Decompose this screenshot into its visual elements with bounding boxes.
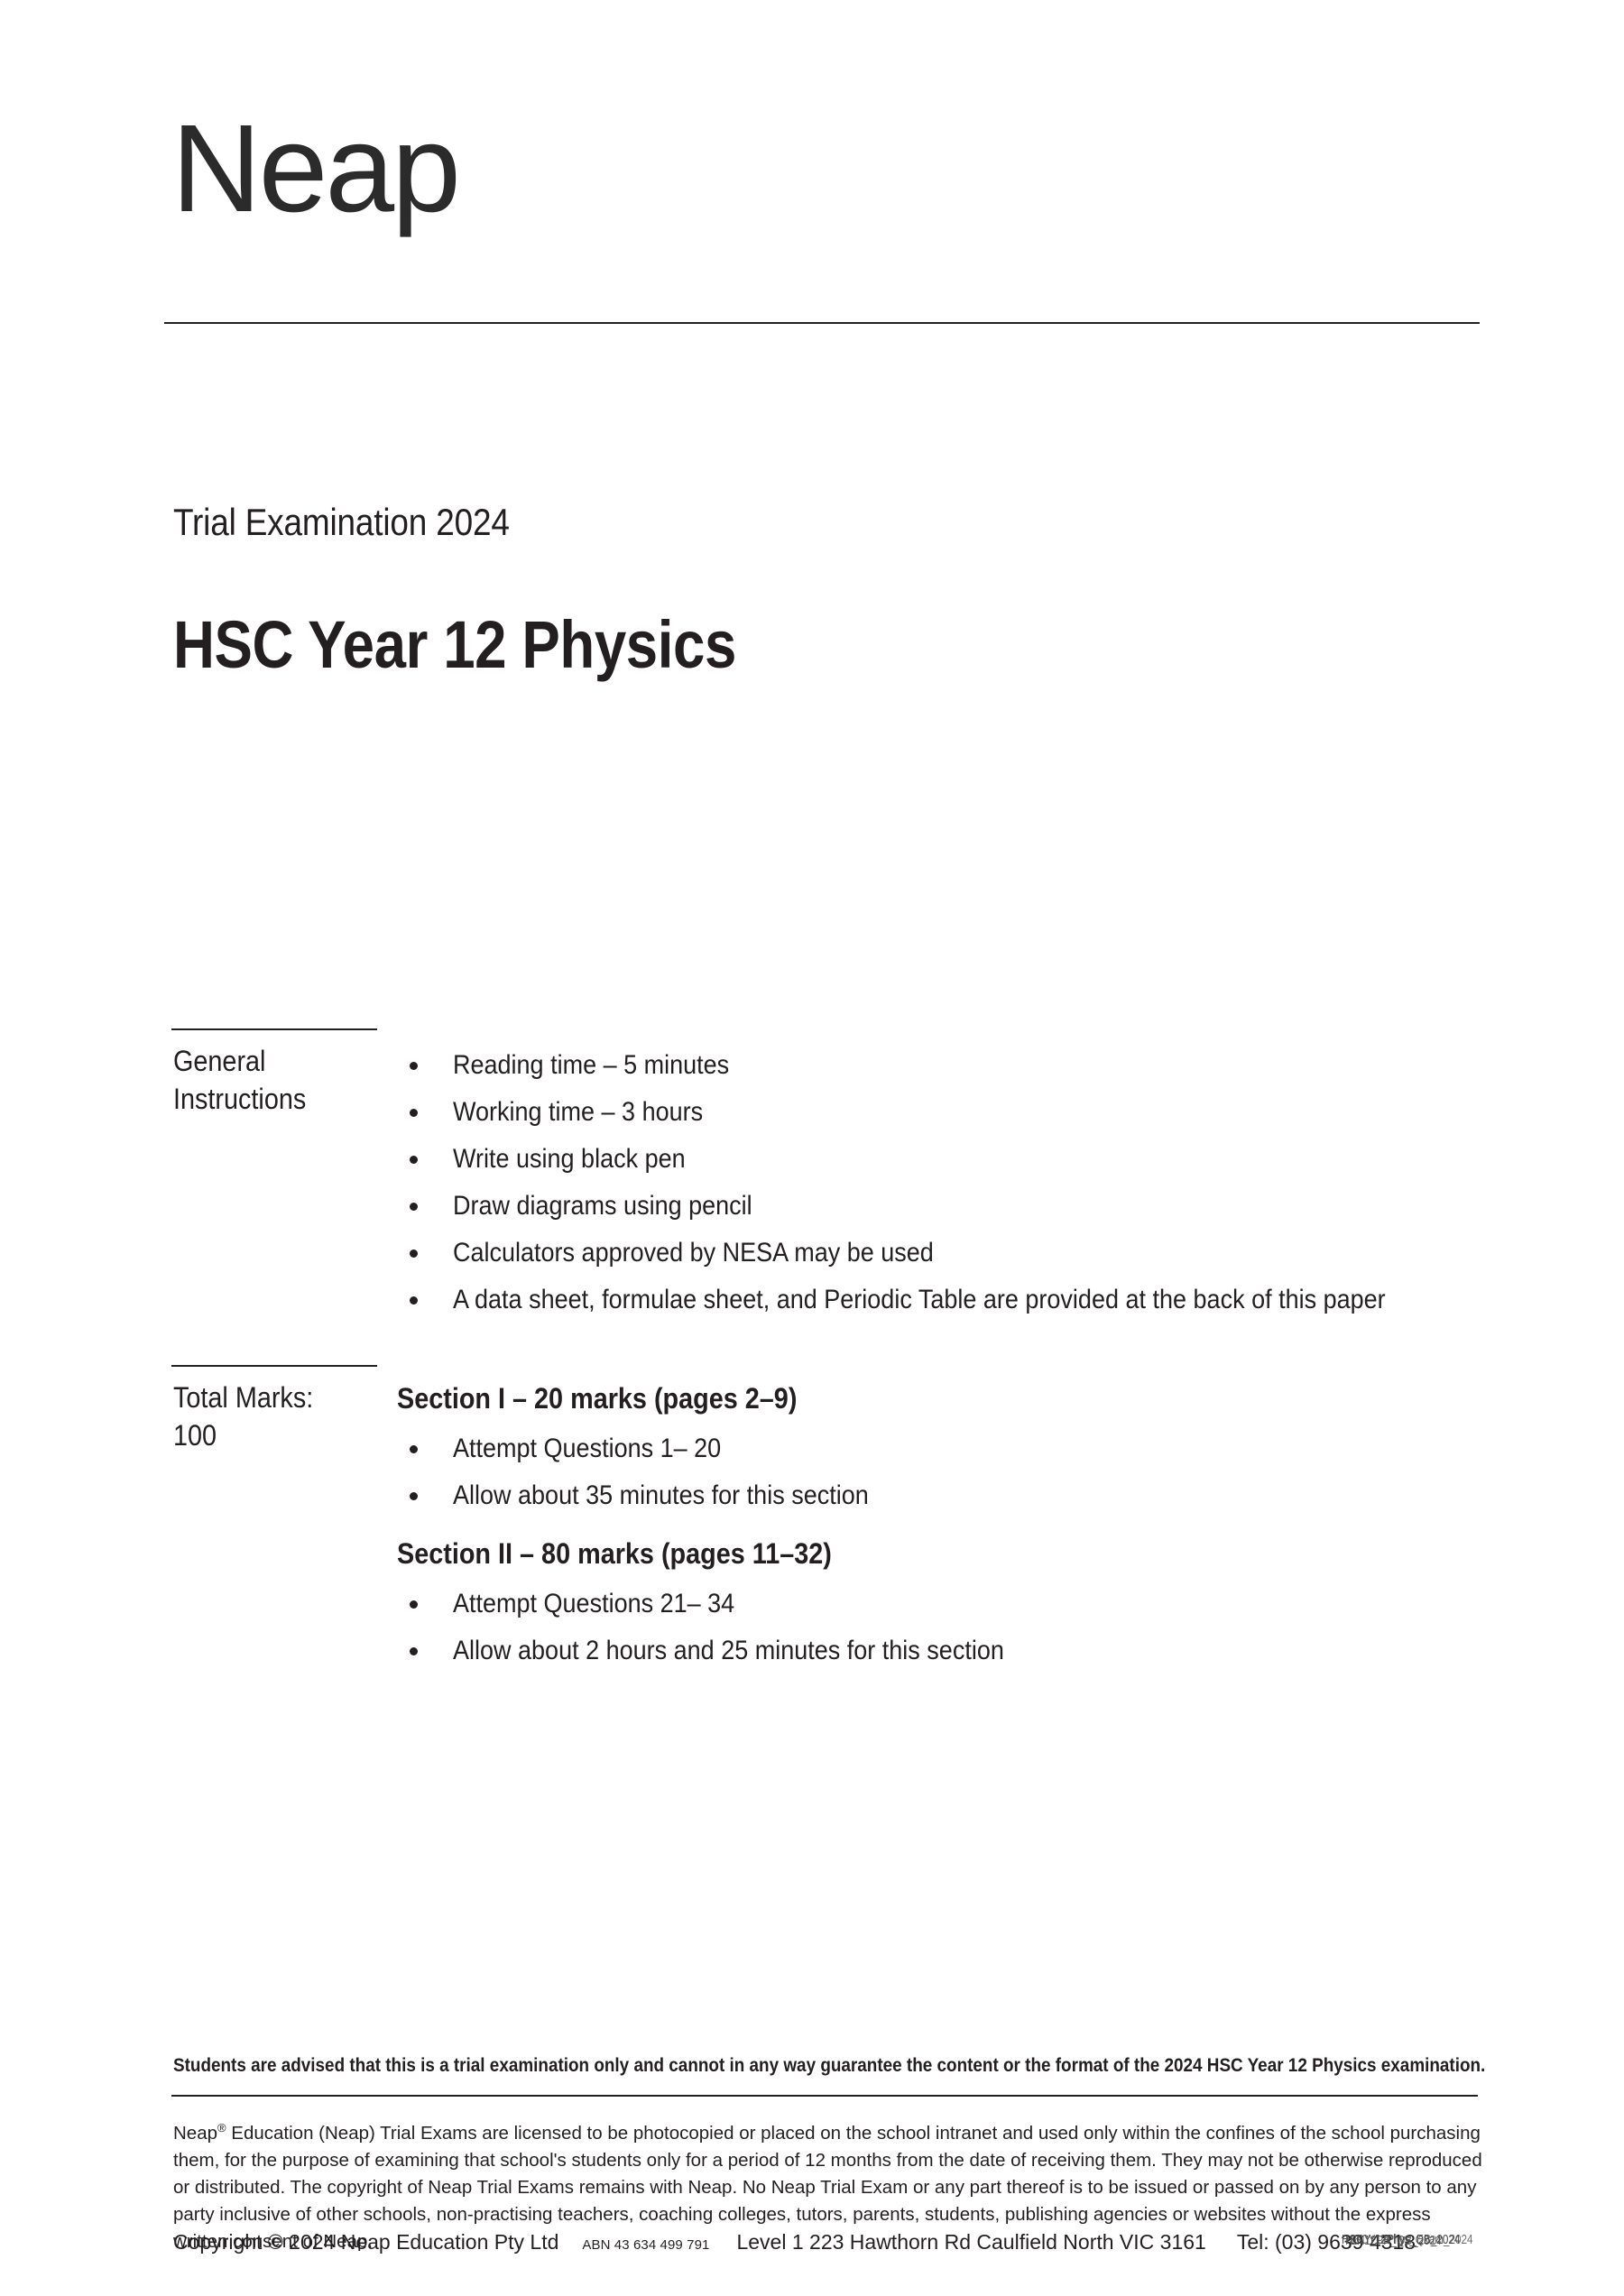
abn-text: ABN 43 634 499 791 <box>582 2237 709 2253</box>
general-instructions-label-line2: Instructions <box>173 1080 417 1118</box>
bullet-dot-icon <box>410 1600 418 1609</box>
section-one-heading: Section I – 20 marks (pages 2–9) <box>397 1379 1480 1418</box>
license-brand: Neap <box>173 2123 217 2144</box>
trial-exam-advisory: Students are advised that this is a tria… <box>173 2055 1481 2077</box>
copyright-text: Copyright © 2024 Neap Education Pty Ltd <box>173 2230 558 2254</box>
list-item-label: Attempt Questions 21– 34 <box>453 1581 734 1627</box>
list-item: A data sheet, formulae sheet, and Period… <box>397 1277 1480 1323</box>
general-instructions-list: Reading time – 5 minutes Working time – … <box>397 1042 1480 1323</box>
bullet-dot-icon <box>410 1062 418 1070</box>
neap-logo: Neap <box>171 106 458 231</box>
section-two: Section II – 80 marks (pages 11–32) Atte… <box>397 1534 1480 1674</box>
list-item-label: Reading time – 5 minutes <box>453 1042 729 1089</box>
list-item-label: Allow about 35 minutes for this section <box>453 1472 869 1519</box>
document-code-layer-3: HSCY12Phys_Exam_2024 <box>1346 2232 1472 2247</box>
page-title: HSC Year 12 Physics <box>173 606 736 683</box>
list-item: Allow about 35 minutes for this section <box>397 1472 1480 1519</box>
bullet-dot-icon <box>410 1156 418 1164</box>
list-item: Working time – 3 hours <box>397 1089 1480 1136</box>
footer-divider <box>171 2095 1478 2097</box>
general-instructions-label: General Instructions <box>173 1042 417 1118</box>
total-marks-divider <box>171 1365 377 1367</box>
header-divider <box>164 322 1480 324</box>
list-item: Draw diagrams using pencil <box>397 1183 1480 1230</box>
bullet-dot-icon <box>410 1492 418 1500</box>
bullet-dot-icon <box>410 1249 418 1258</box>
list-item-label: Attempt Questions 1– 20 <box>453 1425 721 1472</box>
document-code: HSCYr12Phys_QB_2024 TEN12PH_QB_2024 HSCY… <box>1342 2232 1504 2255</box>
total-marks-label-line1: Total Marks: <box>173 1379 417 1416</box>
total-marks-label: Total Marks: 100 <box>173 1379 417 1454</box>
bullet-dot-icon <box>410 1647 418 1655</box>
total-marks-value: 100 <box>173 1416 417 1454</box>
copyright-line: Copyright © 2024 Neap Education Pty LtdA… <box>173 2228 1483 2259</box>
list-item-label: Working time – 3 hours <box>453 1089 703 1136</box>
bullet-dot-icon <box>410 1296 418 1305</box>
section-one: Section I – 20 marks (pages 2–9) Attempt… <box>397 1379 1480 1519</box>
list-item-label: Write using black pen <box>453 1136 686 1183</box>
bullet-dot-icon <box>410 1203 418 1211</box>
bullet-dot-icon <box>410 1445 418 1453</box>
general-instructions-label-line1: General <box>173 1042 417 1080</box>
list-item: Attempt Questions 1– 20 <box>397 1425 1480 1472</box>
list-item: Reading time – 5 minutes <box>397 1042 1480 1089</box>
list-item-label: A data sheet, formulae sheet, and Period… <box>453 1277 1386 1323</box>
list-item: Allow about 2 hours and 25 minutes for t… <box>397 1627 1480 1674</box>
list-item: Attempt Questions 21– 34 <box>397 1581 1480 1627</box>
bullet-dot-icon <box>410 1109 418 1117</box>
exam-kicker: Trial Examination 2024 <box>173 501 510 544</box>
general-instructions-divider <box>171 1028 377 1030</box>
list-item-label: Allow about 2 hours and 25 minutes for t… <box>453 1627 1004 1674</box>
list-item-label: Draw diagrams using pencil <box>453 1183 752 1230</box>
registered-trademark-icon: ® <box>217 2121 226 2135</box>
list-item: Write using black pen <box>397 1136 1480 1183</box>
list-item: Calculators approved by NESA may be used <box>397 1230 1480 1277</box>
exam-cover-page: Neap Trial Examination 2024 HSC Year 12 … <box>0 0 1624 2296</box>
list-item-label: Calculators approved by NESA may be used <box>453 1230 934 1277</box>
address-text: Level 1 223 Hawthorn Rd Caulfield North … <box>736 2230 1205 2254</box>
section-two-heading: Section II – 80 marks (pages 11–32) <box>397 1534 1480 1573</box>
